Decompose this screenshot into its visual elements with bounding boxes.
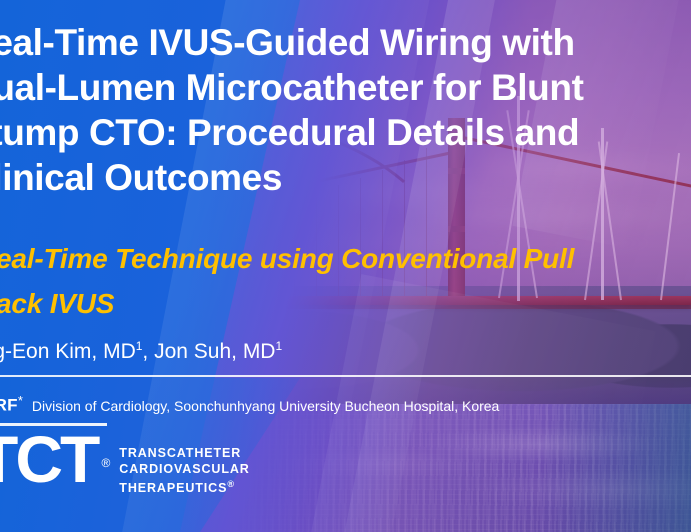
title-line-4: Clinical Outcomes: [0, 155, 691, 200]
tct-sub-line-3: THERAPEUTICS®: [119, 477, 249, 497]
tct-sub-line-1: TRANSCATHETER: [119, 446, 249, 462]
title-slide: Real-Time IVUS-Guided Wiring with Dual-L…: [0, 0, 691, 532]
tct-sub-line-2: CARDIOVASCULAR: [119, 462, 249, 478]
tct-logo: TCT® TRANSCATHETER CARDIOVASCULAR THERAP…: [0, 428, 250, 497]
affiliation-line: CRF*Division of Cardiology, Soonchunhyan…: [0, 393, 691, 416]
tct-logo-subtitle: TRANSCATHETER CARDIOVASCULAR THERAPEUTIC…: [119, 446, 249, 497]
tct-wordmark-text: TCT: [0, 422, 97, 496]
author-1-name: Sang-Eon Kim, MD: [0, 340, 136, 363]
subtitle-line-1: Real-Time Technique using Conventional P…: [0, 236, 691, 281]
registered-trademark-icon: ®: [101, 432, 110, 494]
slide-subtitle: Real-Time Technique using Conventional P…: [0, 236, 691, 326]
horizontal-divider: [0, 375, 691, 377]
title-line-1: Real-Time IVUS-Guided Wiring with: [0, 20, 691, 65]
title-line-3: Stump CTO: Procedural Details and: [0, 110, 691, 155]
crf-mark: CRF: [0, 396, 18, 415]
author-line: Sang-Eon Kim, MD1, Jon Suh, MD1: [0, 339, 691, 364]
registered-trademark-icon-small: ®: [227, 479, 235, 489]
affiliation-text: Division of Cardiology, Soonchunhyang Un…: [32, 398, 499, 414]
slide-title: Real-Time IVUS-Guided Wiring with Dual-L…: [0, 20, 691, 200]
tct-sub-line-3-text: THERAPEUTICS: [119, 481, 227, 495]
author-2-affiliation-marker: 1: [275, 339, 282, 353]
tct-wordmark: TCT®: [0, 428, 97, 490]
crf-asterisk: *: [18, 393, 23, 408]
subtitle-line-2: Back IVUS: [0, 281, 691, 326]
author-2-name: , Jon Suh, MD: [142, 340, 275, 363]
title-line-2: Dual-Lumen Microcatheter for Blunt: [0, 65, 691, 110]
